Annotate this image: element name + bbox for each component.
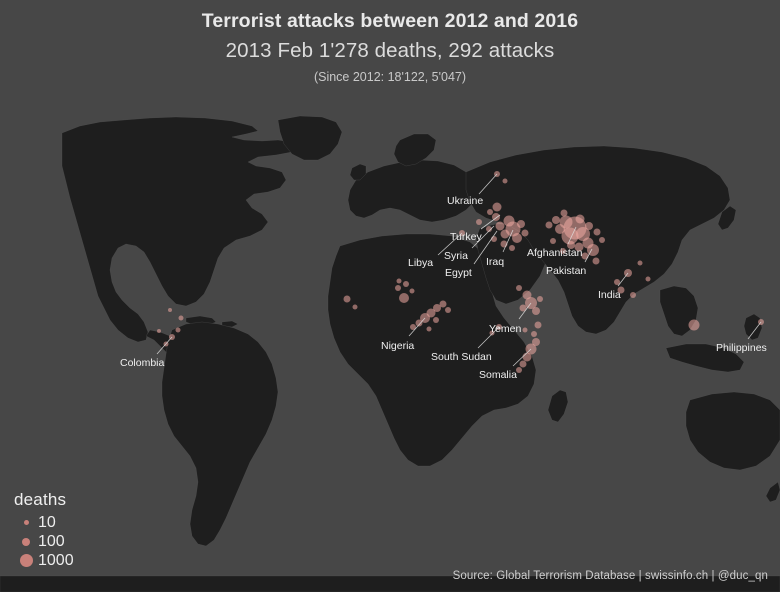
legend-item: 100	[14, 532, 74, 551]
legend-dot-icon	[22, 538, 30, 546]
legend-items: 101001000	[14, 513, 74, 570]
legend-label: 10	[38, 515, 56, 531]
legend-dot-icon	[24, 520, 29, 525]
map-visualization: UkraineTurkeyLibyaSyriaEgyptIraqAfghanis…	[0, 0, 780, 592]
legend: deaths 101001000	[14, 490, 74, 570]
legend-dot-wrap	[14, 520, 38, 525]
legend-label: 1000	[38, 553, 74, 569]
world-map	[0, 0, 780, 592]
legend-dot-wrap	[14, 554, 38, 567]
legend-title: deaths	[14, 490, 74, 510]
legend-item: 10	[14, 513, 74, 532]
source-credit: Source: Global Terrorism Database | swis…	[453, 570, 768, 582]
legend-dot-icon	[20, 554, 33, 567]
legend-label: 100	[38, 534, 65, 550]
legend-item: 1000	[14, 551, 74, 570]
legend-dot-wrap	[14, 538, 38, 546]
